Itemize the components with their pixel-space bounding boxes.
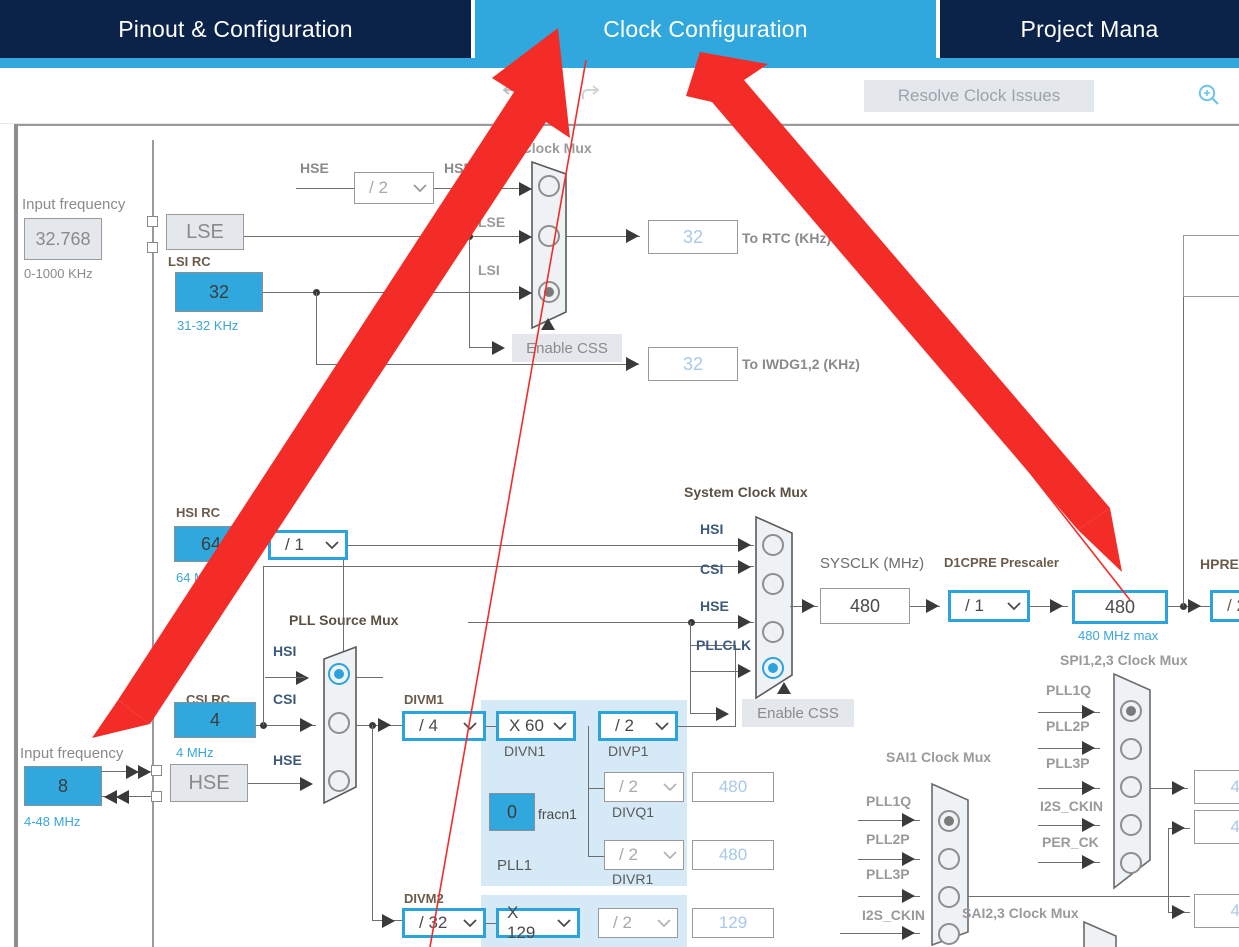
hse-rtc-divider-select[interactable]: / 2 (354, 172, 434, 204)
wire-lsi-to-rtcmux (263, 292, 532, 293)
sysmux-label-hse: HSE (700, 598, 729, 614)
arrow-css-to-sysmux (777, 682, 791, 694)
tab-project-manager[interactable]: Project Mana (940, 0, 1239, 58)
hpre-label: HPRE (1200, 556, 1239, 572)
fracn1-field[interactable]: 0 (489, 793, 535, 831)
sai1-mux-radio-2[interactable] (938, 886, 960, 908)
arrow-out-bottom (1172, 905, 1185, 919)
chevron-down-icon (551, 911, 577, 935)
spi-mux-radio-2[interactable] (1120, 776, 1142, 798)
sai1-mux-radio-1[interactable] (938, 848, 960, 870)
arrow-sai1-in2 (902, 889, 915, 903)
arrow-d1cpre-in (926, 599, 939, 613)
hse-terminal-out (151, 791, 162, 802)
hsi-divider-value: / 1 (271, 535, 319, 555)
csi-value-field[interactable]: 4 (174, 702, 256, 738)
tab-clock-configuration[interactable]: Clock Configuration (475, 0, 936, 58)
arrow-out-mid (1172, 821, 1185, 835)
arrow-sai1-in3 (902, 926, 915, 940)
sai1-mux-radio-3[interactable] (938, 923, 960, 945)
wire-lse-drop (469, 236, 470, 292)
divn2-select[interactable]: X 129 (496, 908, 580, 938)
tab-label: Pinout & Configuration (118, 16, 353, 43)
pll-source-mux-radio-0[interactable] (328, 663, 350, 685)
chevron-down-icon (1001, 593, 1027, 619)
sai1-clock-mux-title: SAI1 Clock Mux (886, 749, 991, 765)
arrow-spi-in1 (1082, 741, 1095, 755)
wire-div-to-rtcmux (434, 188, 532, 189)
wire-hse-to-sysmux (468, 622, 754, 623)
iwdg-output-label: To IWDG1,2 (KHz) (742, 356, 860, 372)
oscillator-rail (152, 140, 154, 947)
spi-mux-radio-0[interactable] (1120, 700, 1142, 722)
arrow-sai1-in0 (902, 813, 915, 827)
tab-bar-underline (0, 58, 1239, 68)
wire-css-feed-v (690, 622, 691, 714)
sai1-mux-label-i2sckin: I2S_CKIN (862, 907, 925, 923)
wire-csi-to-sysmux-v (263, 566, 264, 725)
hsi-range-label: 64 MHz (176, 570, 221, 585)
wire-lsi-iwdg-v (316, 292, 317, 364)
arrow-spi-in0 (1082, 705, 1095, 719)
sysmux-radio-2[interactable] (762, 621, 784, 643)
sai1-mux-label-pll3p: PLL3P (866, 866, 910, 882)
pll-source-mux-radio-1[interactable] (328, 712, 350, 734)
chevron-down-icon (651, 909, 677, 937)
wire-spi-out-v (1168, 828, 1169, 912)
divm2-label: DIVM2 (404, 891, 444, 906)
arrow-pllsrc-in-csi (300, 718, 313, 732)
sai23-clock-mux[interactable] (1082, 920, 1128, 947)
divm2-value: / 32 (405, 913, 457, 933)
rtc-mux-radio-0[interactable] (538, 175, 560, 197)
hsi-rc-title: HSI RC (176, 505, 220, 520)
arrow-pllsrc-in-hsi (296, 671, 309, 685)
chevron-down-icon (319, 533, 345, 557)
d1cpre-value: / 1 (951, 596, 1001, 616)
divq1-label: DIVQ1 (612, 804, 654, 820)
hse-rtc-divider-value: / 2 (355, 178, 407, 198)
arrow-divm1-in (378, 718, 391, 732)
divp1-select[interactable]: / 2 (598, 711, 678, 741)
wire-pll1-spine (588, 726, 589, 856)
arrow-sysclk-in (802, 599, 815, 613)
chevron-down-icon (657, 773, 683, 801)
hsi-value-field[interactable]: 64 (174, 526, 248, 562)
pll1-group-label: PLL1 (497, 857, 532, 874)
divp2-select[interactable]: / 2 (598, 908, 678, 938)
wire-lsi-iwdg-h (316, 364, 639, 365)
wire-pllsrc-to-divm2-v (372, 725, 373, 920)
chevron-down-icon (657, 841, 683, 869)
divm1-value: / 4 (405, 716, 457, 736)
lsi-range-label: 31-32 KHz (177, 318, 238, 333)
sai23-clock-mux-title: SAI2,3 Clock Mux (962, 905, 1079, 921)
lse-input-frequency-field[interactable]: 32.768 (24, 218, 102, 260)
wire-pllsrc-hsi-stub (265, 677, 305, 678)
arrow-d1cpre-out (1050, 599, 1063, 613)
fracn1-label: fracn1 (538, 806, 577, 822)
arrow-sysmux-in-csi (738, 560, 751, 574)
hse-rtc-out-label: HSE_RTC (444, 160, 509, 176)
d1cpre-max-note: 480 MHz max (1078, 628, 1158, 643)
arrow-css-to-rtcmux (541, 318, 555, 330)
arrow-sysmux-in-hse (738, 615, 751, 629)
d1cpre-select[interactable]: / 1 (948, 590, 1030, 622)
rtc-mux-radio-1[interactable] (538, 225, 560, 247)
arrow-spi-out (1172, 781, 1185, 795)
arrow-spi-in3 (1082, 818, 1095, 832)
iwdg-output-field[interactable]: 32 (648, 347, 738, 381)
d1cpre-label: D1CPRE Prescaler (944, 555, 1059, 570)
spi-mux-label-perck: PER_CK (1042, 834, 1099, 850)
rtc-output-field[interactable]: 32 (648, 220, 738, 254)
tab-pinout-configuration[interactable]: Pinout & Configuration (0, 0, 471, 58)
divp1-label: DIVP1 (608, 743, 648, 759)
wire-hsi-to-div (248, 544, 270, 545)
arrow-spi-in4 (1082, 855, 1095, 869)
top-right-partial-box (1183, 235, 1239, 297)
divr1-value: / 2 (605, 845, 657, 865)
hse-range-label: 4-48 MHz (24, 814, 80, 829)
wire-lsi-down (469, 292, 470, 347)
rtc-mux-label-lsi: LSI (478, 262, 500, 278)
divq1-select[interactable]: / 2 (604, 772, 684, 802)
lsi-value-field[interactable]: 32 (175, 272, 263, 312)
wire-sai1-out (968, 896, 1190, 897)
hse-terminal-in (151, 765, 162, 776)
spi-output-field-1[interactable]: 48 (1194, 810, 1239, 844)
divr1-output-field[interactable]: 480 (692, 840, 774, 870)
pll-source-label-hsi: HSI (273, 643, 296, 659)
lse-source-box[interactable]: LSE (166, 214, 244, 250)
sysmux-label-hsi: HSI (700, 521, 723, 537)
divm1-select[interactable]: / 4 (402, 711, 486, 741)
refresh-icon[interactable] (712, 78, 746, 112)
divn1-label: DIVN1 (504, 743, 545, 759)
rtc-mux-label-lse: LSE (478, 214, 505, 230)
sysmux-label-pllclk: PLLCLK (696, 637, 751, 653)
divq1-value: / 2 (605, 777, 657, 797)
divq1-output-field[interactable]: 480 (692, 772, 774, 802)
wire-divp1-out (678, 726, 736, 727)
pll-source-mux-title: PLL Source Mux (289, 612, 398, 628)
divp2-value: / 2 (599, 913, 651, 933)
sai1-mux-radio-0[interactable] (938, 810, 960, 832)
undo-icon[interactable] (494, 78, 528, 112)
arrow-sai1-in1 (902, 852, 915, 866)
divp2-output-field[interactable]: 129 (692, 908, 774, 938)
pll-source-mux-radio-2[interactable] (328, 770, 350, 792)
hse-rtc-source-label: HSE (300, 160, 329, 176)
wire-hse-to-div (296, 188, 354, 189)
sysmux-radio-1[interactable] (762, 573, 784, 595)
hse-input-frequency-field[interactable]: 8 (24, 766, 102, 806)
lsi-rc-title: LSI RC (168, 254, 211, 269)
pll-source-label-csi: CSI (273, 691, 296, 707)
spi-mux-radio-3[interactable] (1120, 814, 1142, 836)
hse-source-box[interactable]: HSE (170, 764, 248, 802)
sysclk-label: SYSCLK (MHz) (820, 555, 924, 572)
arrow-hse-in-b (138, 765, 151, 779)
pll-source-label-hse: HSE (273, 752, 302, 768)
chevron-down-icon (457, 714, 483, 738)
spi-output-field-2[interactable]: 48 (1194, 894, 1239, 928)
spi-mux-radio-4[interactable] (1120, 852, 1142, 874)
rtc-clock-mux-title: RTC Clock Mux (489, 140, 592, 156)
arrow-hpre-in (1188, 599, 1201, 613)
wire-pllclk-to-sysmux (690, 671, 738, 672)
rtc-enable-css-button[interactable]: Enable CSS (512, 334, 622, 362)
rtc-mux-radio-2[interactable] (538, 281, 560, 303)
sysmux-label-csi: CSI (700, 561, 723, 577)
wire-lse-to-rtcmux (244, 236, 532, 237)
hpre-value: / 2 (1213, 596, 1239, 616)
spi-mux-radio-1[interactable] (1120, 738, 1142, 760)
wire-csi-to-sysmux-h (263, 566, 754, 567)
redo-icon[interactable] (574, 78, 608, 112)
chevron-down-icon (457, 911, 483, 935)
arrow-iwdg-in (626, 357, 639, 371)
divr1-label: DIVR1 (612, 871, 653, 887)
wire-hsi-to-sysmux (348, 545, 754, 546)
zoom-in-icon[interactable] (1192, 78, 1226, 112)
spi-clock-mux-title: SPI1,2,3 Clock Mux (1060, 652, 1188, 668)
spi-mux-label-pll3p: PLL3P (1046, 755, 1090, 771)
spi-output-field-0[interactable]: 48 (1194, 770, 1239, 804)
arrow-pllsrc-in-hse (300, 777, 313, 791)
arrow-sysmux-in-pllclk (738, 664, 751, 678)
divn1-select[interactable]: X 60 (496, 711, 576, 741)
sysmux-radio-0[interactable] (762, 534, 784, 556)
divp1-value: / 2 (601, 716, 649, 736)
divm2-select[interactable]: / 32 (402, 908, 486, 938)
chevron-down-icon (649, 714, 675, 738)
divn1-value: X 60 (499, 716, 547, 736)
tab-label: Clock Configuration (603, 16, 808, 43)
d1cpre-output-field[interactable]: 480 (1072, 590, 1168, 624)
spi-mux-label-pll2p: PLL2P (1046, 718, 1090, 734)
sysclk-field[interactable]: 480 (820, 588, 910, 624)
lse-terminal-out (147, 242, 158, 253)
hsi-divider-select[interactable]: / 1 (268, 530, 348, 560)
divr1-select[interactable]: / 2 (604, 840, 684, 870)
divn2-value: X 129 (499, 903, 551, 943)
arrow-hse-out-b (116, 790, 129, 804)
sai1-mux-label-pll1q: PLL1Q (866, 793, 911, 809)
tab-label: Project Mana (1021, 16, 1159, 43)
arrow-divm2-in (382, 914, 395, 928)
hpre-select[interactable]: / 2 (1210, 590, 1239, 622)
spi-mux-label-pll1q: PLL1Q (1046, 682, 1091, 698)
chevron-down-icon (407, 173, 433, 203)
rtc-output-label: To RTC (KHz) (742, 230, 831, 246)
lse-terminal-in (147, 216, 158, 227)
main-tab-bar: Pinout & Configuration Clock Configurati… (0, 0, 1239, 58)
sysclk-enable-css-button[interactable]: Enable CSS (742, 699, 854, 727)
lse-range-label: 0-1000 KHz (24, 266, 93, 281)
csi-range-label: 4 MHz (176, 745, 214, 760)
arrow-css-feed (716, 707, 729, 721)
hse-input-frequency-label: Input frequency (20, 745, 123, 762)
system-clock-mux-title: System Clock Mux (684, 484, 808, 500)
arrow-sysmux-in-hsi (738, 538, 751, 552)
lse-input-frequency-label: Input frequency (22, 196, 125, 213)
spi-mux-label-i2sckin: I2S_CKIN (1040, 798, 1103, 814)
divm1-label: DIVM1 (404, 692, 444, 707)
chevron-down-icon (547, 714, 573, 738)
arrow-css-in (492, 341, 505, 355)
arrow-rtc-box-in (626, 229, 639, 243)
arrow-spi-in2 (1082, 781, 1095, 795)
wire-pllclk-up (735, 645, 736, 727)
sai1-mux-label-pll2p: PLL2P (866, 831, 910, 847)
resolve-clock-issues-button[interactable]: Resolve Clock Issues (864, 80, 1094, 112)
sysmux-radio-3[interactable] (762, 657, 784, 679)
